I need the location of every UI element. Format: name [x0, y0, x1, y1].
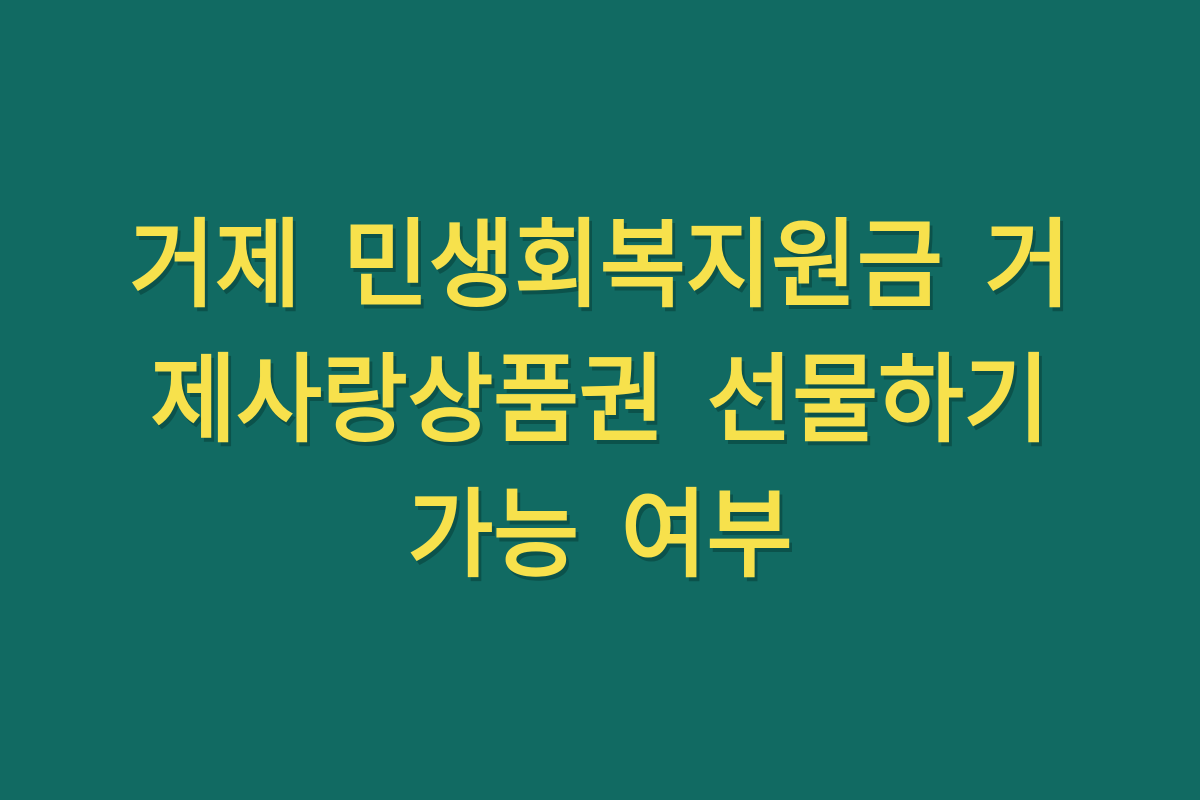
page-title: 거제 민생회복지원금 거 제사랑상품권 선물하기 가능 여부 — [86, 198, 1114, 603]
banner-canvas: 거제 민생회복지원금 거 제사랑상품권 선물하기 가능 여부 — [0, 0, 1200, 800]
